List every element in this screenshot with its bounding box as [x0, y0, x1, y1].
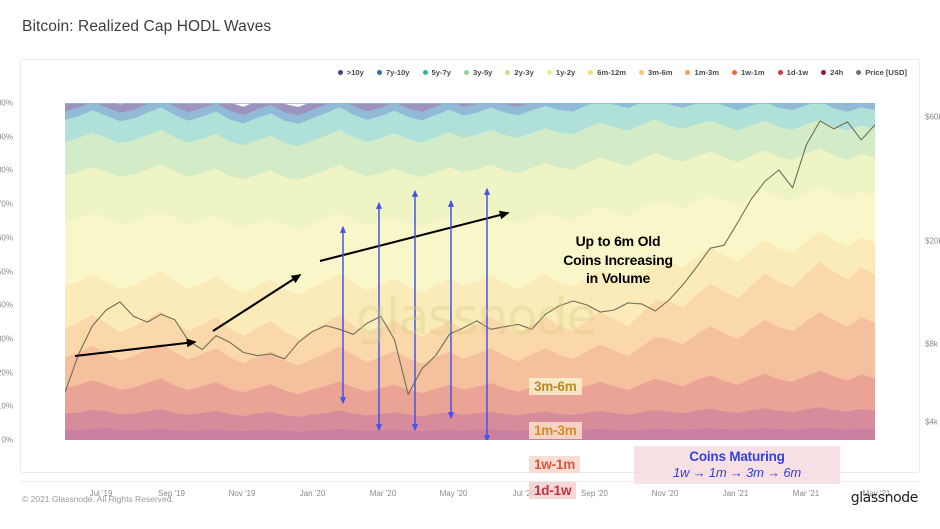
- hodl-waves-stacked-area-chart: [65, 103, 875, 440]
- legend-item-label: 3m-6m: [648, 68, 672, 77]
- x-axis-tick-label: Nov '20: [652, 489, 679, 498]
- x-axis-tick-label: Nov '19: [229, 489, 256, 498]
- legend-swatch-icon: [423, 70, 428, 75]
- page-title: Bitcoin: Realized Cap HODL Waves: [22, 18, 271, 36]
- legend-item-label: 1m-3m: [694, 68, 718, 77]
- x-axis-tick-label: Mar '20: [370, 489, 396, 498]
- legend-item-1d-1w[interactable]: 1d-1w: [778, 68, 809, 77]
- band-label-3m-6m: 3m-6m: [529, 378, 582, 395]
- legend-item-label: 1w-1m: [741, 68, 765, 77]
- x-axis-tick-label: Sep '20: [581, 489, 608, 498]
- legend-item-label: 24h: [830, 68, 843, 77]
- legend-item-10y[interactable]: >10y: [338, 68, 364, 77]
- band-label-1m-3m: 1m-3m: [529, 422, 582, 439]
- annotation-headline-line: Up to 6m Old: [518, 232, 718, 251]
- y-axis-tick-label: 70%: [0, 200, 13, 209]
- legend-item-7y-10y[interactable]: 7y-10y: [377, 68, 410, 77]
- legend-item-label: 1y-2y: [556, 68, 575, 77]
- x-axis-tick-label: May '20: [440, 489, 468, 498]
- legend-item-label: >10y: [347, 68, 364, 77]
- y2-axis-tick-label: $20k: [925, 236, 940, 245]
- y2-axis-tick-label: $60k: [925, 113, 940, 122]
- legend-item-label: 2y-3y: [514, 68, 533, 77]
- legend-item-1y-2y[interactable]: 1y-2y: [547, 68, 575, 77]
- legend-item-label: 7y-10y: [386, 68, 410, 77]
- legend-swatch-icon: [821, 70, 826, 75]
- y-axis-tick-label: 80%: [0, 166, 13, 175]
- y2-axis-tick-label: $8k: [925, 339, 940, 348]
- legend-item-24h[interactable]: 24h: [821, 68, 843, 77]
- legend-swatch-icon: [338, 70, 343, 75]
- y-axis-tick-label: 20%: [0, 368, 13, 377]
- band-label-1d-1w: 1d-1w: [529, 482, 576, 499]
- legend-item-price-usd[interactable]: Price [USD]: [856, 68, 907, 77]
- legend-item-6m-12m[interactable]: 6m-12m: [588, 68, 626, 77]
- legend-item-5y-7y[interactable]: 5y-7y: [423, 68, 451, 77]
- chart-card: >10y7y-10y5y-7y3y-5y2y-3y1y-2y6m-12m3m-6…: [20, 59, 920, 473]
- legend-swatch-icon: [464, 70, 469, 75]
- legend-swatch-icon: [732, 70, 737, 75]
- x-axis-tick-label: Mar '21: [793, 489, 819, 498]
- y-axis-tick-label: 90%: [0, 132, 13, 141]
- legend-swatch-icon: [685, 70, 690, 75]
- y-axis-tick-label: 50%: [0, 267, 13, 276]
- chart-legend: >10y7y-10y5y-7y3y-5y2y-3y1y-2y6m-12m3m-6…: [21, 68, 921, 77]
- y-axis-tick-label: 60%: [0, 233, 13, 242]
- plot-area: 0%10%20%30%40%50%60%70%80%90%100%$4k$8k$…: [65, 103, 875, 440]
- legend-item-3m-6m[interactable]: 3m-6m: [639, 68, 672, 77]
- y2-axis-tick-label: $4k: [925, 417, 940, 426]
- annotation-headline-line: in Volume: [518, 269, 718, 288]
- footer-divider: [20, 481, 920, 482]
- annotation-headline: Up to 6m OldCoins Increasingin Volume: [518, 232, 718, 288]
- footer-brand-logo: glassnode: [851, 490, 918, 506]
- legend-swatch-icon: [547, 70, 552, 75]
- legend-swatch-icon: [639, 70, 644, 75]
- legend-item-label: Price [USD]: [865, 68, 907, 77]
- legend-item-3y-5y[interactable]: 3y-5y: [464, 68, 492, 77]
- y-axis-tick-label: 30%: [0, 334, 13, 343]
- coins-maturing-title: Coins Maturing: [634, 449, 840, 464]
- legend-item-label: 6m-12m: [597, 68, 626, 77]
- y-axis-tick-label: 40%: [0, 301, 13, 310]
- y-axis-tick-label: 0%: [0, 436, 13, 445]
- x-axis-tick-label: Jan '21: [723, 489, 749, 498]
- legend-swatch-icon: [377, 70, 382, 75]
- legend-swatch-icon: [588, 70, 593, 75]
- legend-swatch-icon: [505, 70, 510, 75]
- legend-item-label: 5y-7y: [432, 68, 451, 77]
- y-axis-tick-label: 100%: [0, 99, 13, 108]
- legend-item-label: 3y-5y: [473, 68, 492, 77]
- footer-copyright: © 2021 Glassnode. All Rights Reserved.: [22, 494, 174, 504]
- legend-item-1m-3m[interactable]: 1m-3m: [685, 68, 718, 77]
- annotation-coins-maturing: Coins Maturing 1w → 1m → 3m → 6m: [634, 446, 840, 484]
- legend-swatch-icon: [778, 70, 783, 75]
- legend-item-2y-3y[interactable]: 2y-3y: [505, 68, 533, 77]
- legend-swatch-icon: [856, 70, 861, 75]
- y-axis-tick-label: 10%: [0, 402, 13, 411]
- annotation-headline-line: Coins Increasing: [518, 251, 718, 270]
- legend-item-1w-1m[interactable]: 1w-1m: [732, 68, 765, 77]
- legend-item-label: 1d-1w: [787, 68, 809, 77]
- x-axis-tick-label: Jan '20: [300, 489, 326, 498]
- band-label-1w-1m: 1w-1m: [529, 456, 580, 473]
- coins-maturing-flow: 1w → 1m → 3m → 6m: [634, 465, 840, 480]
